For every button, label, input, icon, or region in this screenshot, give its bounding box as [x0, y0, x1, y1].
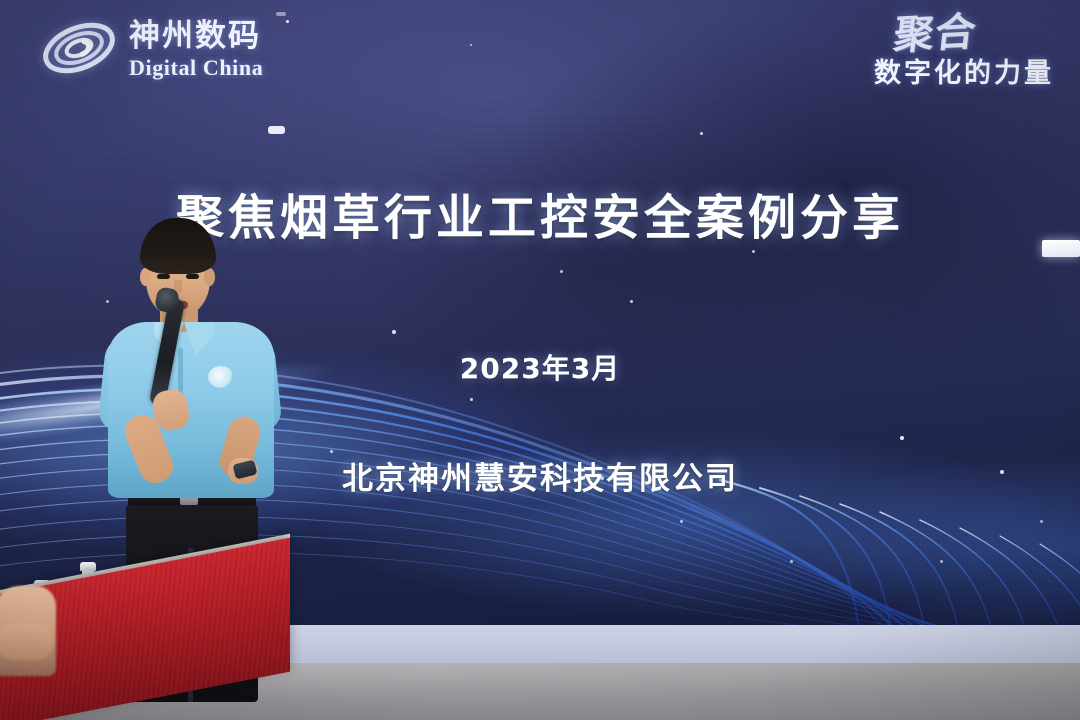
bottle-cap — [80, 562, 96, 571]
speaker-shirt-emblem — [208, 366, 234, 388]
foreground-attendee-arm — [0, 624, 54, 660]
speaker-eye-left — [157, 274, 170, 279]
speaker-hair — [140, 218, 216, 274]
logo-chinese-name: 神州数码 — [129, 21, 263, 52]
conference-stage-photo: 神州数码 Digital China 聚合 数字化的力量 聚焦烟草行业工控安全案… — [0, 0, 1080, 720]
digital-china-logo: 神州数码 Digital China — [40, 14, 263, 82]
swirl-spiral-logo-icon — [40, 14, 118, 82]
speaker-eye-right — [186, 274, 199, 279]
logo-english-name: Digital China — [129, 57, 263, 79]
event-slogan: 聚合 数字化的力量 — [874, 16, 1054, 90]
slogan-brush-text: 聚合 — [892, 14, 978, 55]
logo-text-block: 神州数码 Digital China — [129, 17, 263, 79]
slide-edge-bar-graphic — [1042, 240, 1080, 257]
